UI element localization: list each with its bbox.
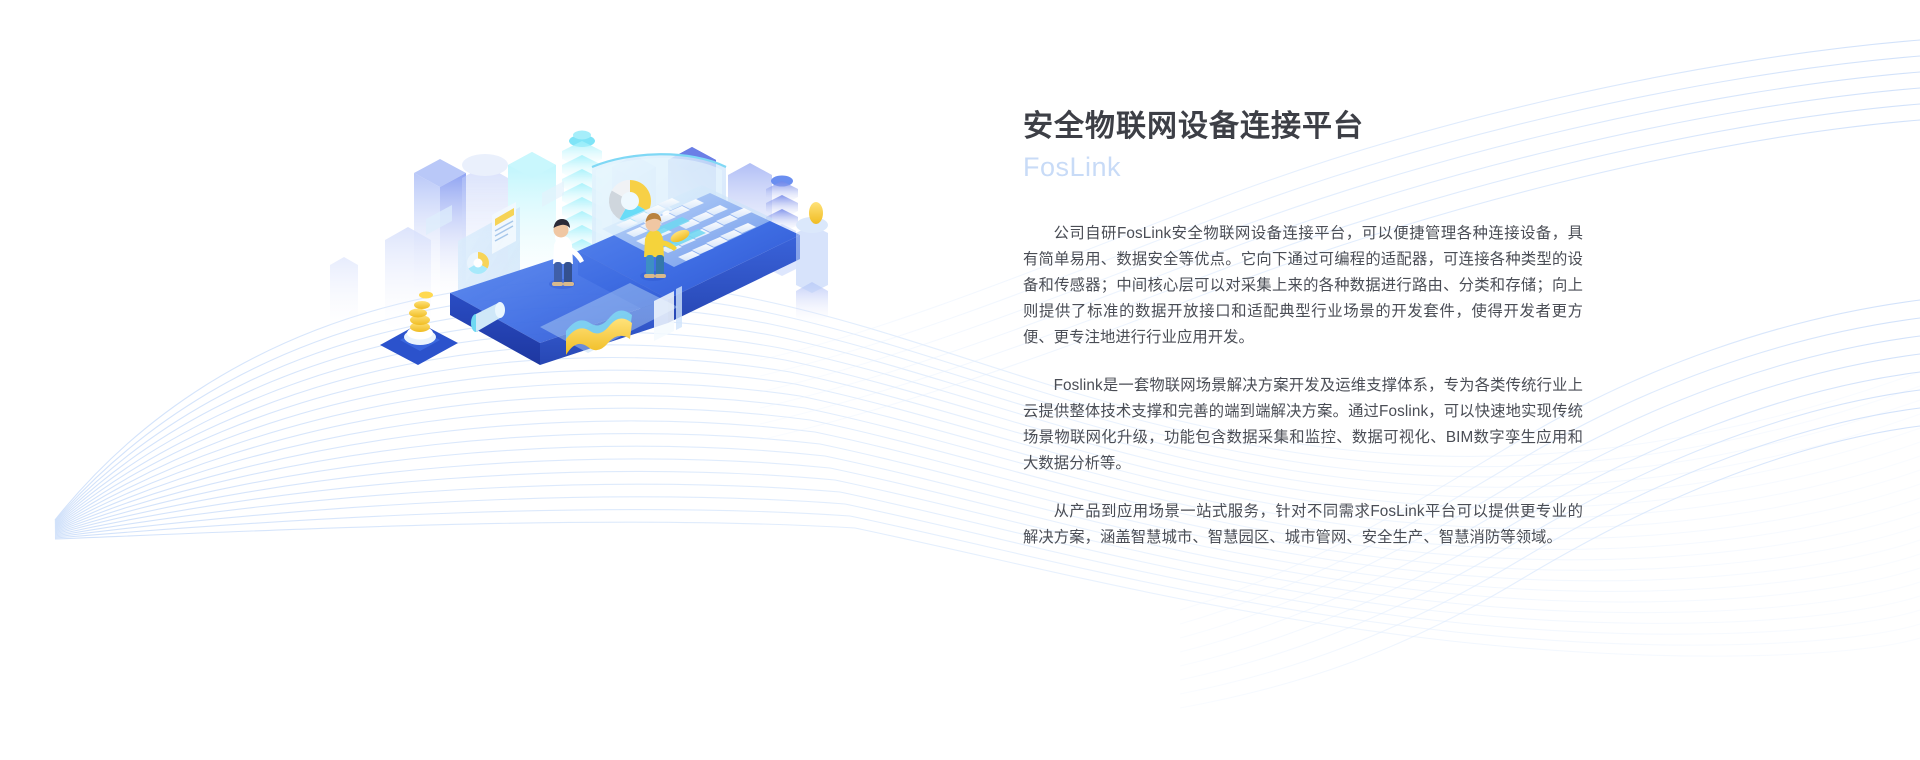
paragraph-1: 公司自研FosLink安全物联网设备连接平台，可以便捷管理各种连接设备，具有简单…: [1023, 221, 1583, 351]
right-coin-pillar: [796, 202, 828, 293]
background-wave-decoration: [0, 0, 1920, 760]
paragraph-3: 从产品到应用场景一站式服务，针对不同需求FosLink平台可以提供更专业的解决方…: [1023, 499, 1583, 551]
description-paragraphs: 公司自研FosLink安全物联网设备连接平台，可以便捷管理各种连接设备，具有简单…: [1023, 221, 1583, 551]
page-subtitle: FosLink: [1023, 150, 1583, 185]
isometric-smart-city-illustration: [330, 55, 850, 365]
hero-text-column: 安全物联网设备连接平台 FosLink 公司自研FosLink安全物联网设备连接…: [1023, 107, 1583, 551]
hero-page: 安全物联网设备连接平台 FosLink 公司自研FosLink安全物联网设备连接…: [0, 0, 1920, 760]
page-title: 安全物联网设备连接平台: [1023, 107, 1583, 148]
paragraph-2: Foslink是一套物联网场景解决方案开发及运维支撑体系，专为各类传统行业上云提…: [1023, 373, 1583, 477]
